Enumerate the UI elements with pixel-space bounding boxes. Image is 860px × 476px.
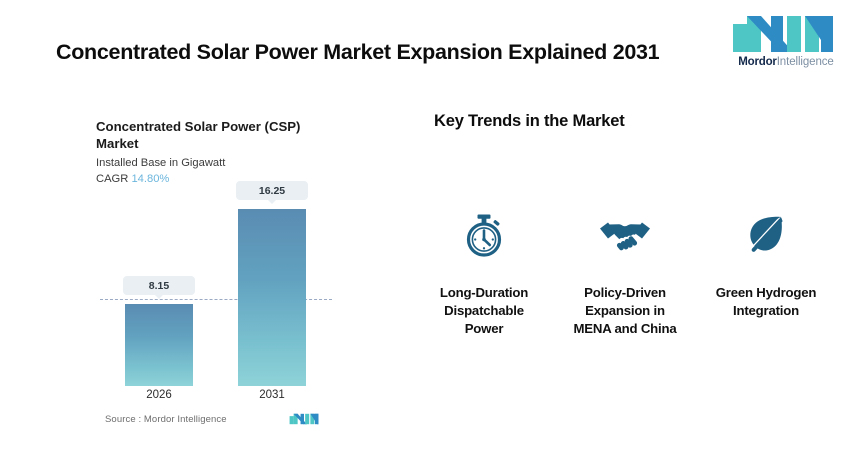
trend-label-policy-driven: Policy-Driven Expansion in MENA and Chin… bbox=[566, 284, 684, 339]
x-axis-labels: 2026 2031 bbox=[96, 389, 346, 407]
source-label: Source : Mordor Intelligence bbox=[105, 414, 227, 425]
trend-label-long-duration: Long-Duration Dispatchable Power bbox=[425, 284, 543, 339]
x-axis-label-2026: 2026 bbox=[125, 389, 193, 401]
source-logo-mark bbox=[289, 412, 319, 426]
leaf-icon bbox=[745, 210, 787, 262]
trends-heading: Key Trends in the Market bbox=[434, 112, 625, 131]
cagr-label: CAGR bbox=[96, 173, 128, 185]
bar-2026 bbox=[125, 304, 193, 386]
bar-value-label-2026: 8.15 bbox=[123, 276, 195, 295]
trend-item-green-hydrogen: Green Hydrogen Integration bbox=[707, 210, 825, 339]
mordor-logo-mark bbox=[731, 14, 835, 54]
handshake-icon bbox=[599, 210, 651, 262]
cagr-value: 14.80% bbox=[131, 173, 169, 185]
chart-subtitle: Installed Base in Gigawatt bbox=[96, 157, 356, 169]
brand-logo: MordorIntelligence bbox=[731, 14, 841, 69]
x-axis-label-2031: 2031 bbox=[238, 389, 306, 401]
page-title: Concentrated Solar Power Market Expansio… bbox=[56, 40, 659, 65]
infographic-page: Concentrated Solar Power Market Expansio… bbox=[0, 0, 860, 476]
trend-item-policy-driven: Policy-Driven Expansion in MENA and Chin… bbox=[566, 210, 684, 339]
bar-value-label-2031: 16.25 bbox=[236, 181, 308, 200]
bar-2031 bbox=[238, 209, 306, 386]
chart-title: Concentrated Solar Power (CSP) Market bbox=[96, 118, 311, 152]
brand-word-bold: Mordor bbox=[738, 56, 776, 68]
trend-item-long-duration: Long-Duration Dispatchable Power bbox=[425, 210, 543, 339]
brand-word-light: Intelligence bbox=[777, 56, 834, 68]
chart-cagr: CAGR 14.80% bbox=[96, 173, 356, 185]
stopwatch-icon bbox=[462, 210, 506, 262]
brand-wordmark: MordorIntelligence bbox=[731, 57, 841, 69]
bar-chart-plot: 8.15 16.25 bbox=[96, 186, 346, 386]
trends-row: Long-Duration Dispatchable Power Polic bbox=[425, 210, 825, 339]
trend-label-green-hydrogen: Green Hydrogen Integration bbox=[707, 284, 825, 320]
chart-source: Source : Mordor Intelligence bbox=[105, 412, 319, 426]
chart-header: Concentrated Solar Power (CSP) Market In… bbox=[96, 118, 356, 185]
